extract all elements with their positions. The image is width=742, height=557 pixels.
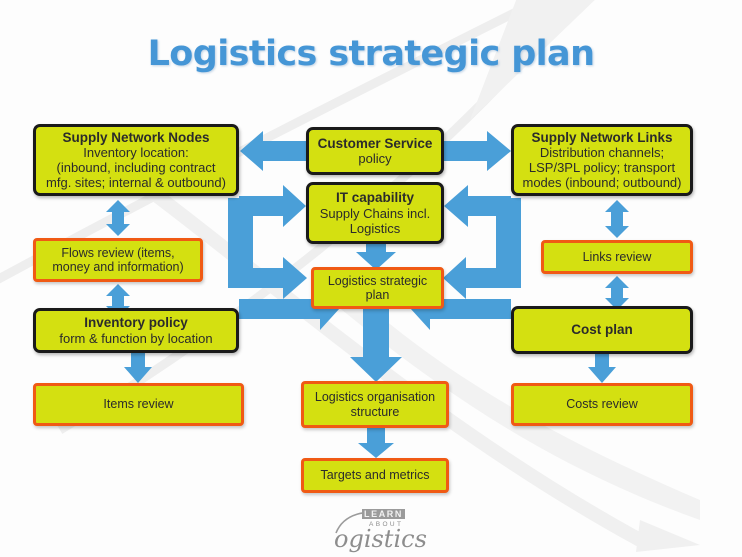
box-links-review[interactable]: Links review <box>541 240 693 274</box>
box-inventory-policy[interactable]: Inventory policy form & function by loca… <box>33 308 239 353</box>
box-flows-review-line1: Flows review (items, <box>36 246 200 261</box>
box-supply-network-links[interactable]: Supply Network Links Distribution channe… <box>511 124 693 196</box>
logo-learn-text: LEARN <box>362 509 405 519</box>
arrow-supply-nodes-to-flows-review <box>106 200 130 236</box>
box-costs-review-line1: Costs review <box>514 397 690 412</box>
logo-logistics-text: ogistics <box>334 525 427 553</box>
arrow-log-org-to-targets <box>358 428 394 458</box>
box-inventory-policy-heading: Inventory policy <box>36 315 236 331</box>
box-it-capability-heading: IT capability <box>309 190 441 206</box>
learn-about-logistics-logo: LEARN ABOUT ogistics <box>326 507 434 553</box>
box-it-capability-line1: Supply Chains incl. <box>309 206 441 221</box>
box-supply-network-nodes[interactable]: Supply Network Nodes Inventory location:… <box>33 124 239 196</box>
slide-canvas: Logistics strategic plan <box>0 0 742 557</box>
box-customer-service-heading: Customer Service <box>309 136 441 152</box>
arrow-plan-to-log-org <box>350 309 402 382</box>
box-inventory-policy-line1: form & function by location <box>36 331 236 346</box>
box-it-capability-line2: Logistics <box>309 221 441 236</box>
box-cost-plan-heading: Cost plan <box>514 322 690 338</box>
box-supply-network-nodes-line1: Inventory location: <box>36 145 236 160</box>
arrow-customer-service-to-supply-links <box>444 131 511 171</box>
arrow-inventory-policy-to-items-review <box>124 353 152 383</box>
arrow-supply-links-to-links-review <box>605 200 629 238</box>
box-supply-network-nodes-line2: (inbound, including contract <box>36 160 236 175</box>
box-supply-network-nodes-line3: mfg. sites; internal & outbound) <box>36 175 236 190</box>
arrow-customer-service-to-supply-nodes <box>240 131 306 171</box>
box-supply-network-links-line2: LSP/3PL policy; transport <box>514 160 690 175</box>
box-cost-plan[interactable]: Cost plan <box>511 306 693 354</box>
box-logistics-organisation-structure[interactable]: Logistics organisation structure <box>301 381 449 428</box>
box-logistics-organisation-structure-line2: structure <box>304 405 446 420</box>
box-supply-network-nodes-heading: Supply Network Nodes <box>36 130 236 146</box>
box-logistics-strategic-plan[interactable]: Logistics strategic plan <box>311 267 444 309</box>
arrow-links-review-to-cost-plan <box>605 276 629 310</box>
box-costs-review[interactable]: Costs review <box>511 383 693 426</box>
box-customer-service[interactable]: Customer Service policy <box>306 127 444 175</box>
box-links-review-line1: Links review <box>544 250 690 265</box>
box-flows-review-line2: money and information) <box>36 260 200 275</box>
box-logistics-strategic-plan-line2: plan <box>314 288 441 303</box>
box-flows-review[interactable]: Flows review (items, money and informati… <box>33 238 203 282</box>
box-targets-and-metrics-line1: Targets and metrics <box>304 468 446 483</box>
box-logistics-organisation-structure-line1: Logistics organisation <box>304 390 446 405</box>
box-supply-network-links-heading: Supply Network Links <box>514 130 690 146</box>
box-supply-network-links-line1: Distribution channels; <box>514 145 690 160</box>
arrow-cost-plan-to-costs-review <box>588 354 616 383</box>
box-targets-and-metrics[interactable]: Targets and metrics <box>301 458 449 493</box>
box-customer-service-line1: policy <box>309 151 441 166</box>
box-items-review-line1: Items review <box>36 397 241 412</box>
box-logistics-strategic-plan-line1: Logistics strategic <box>314 274 441 289</box>
box-it-capability[interactable]: IT capability Supply Chains incl. Logist… <box>306 182 444 244</box>
box-items-review[interactable]: Items review <box>33 383 244 426</box>
box-supply-network-links-line3: modes (inbound; outbound) <box>514 175 690 190</box>
